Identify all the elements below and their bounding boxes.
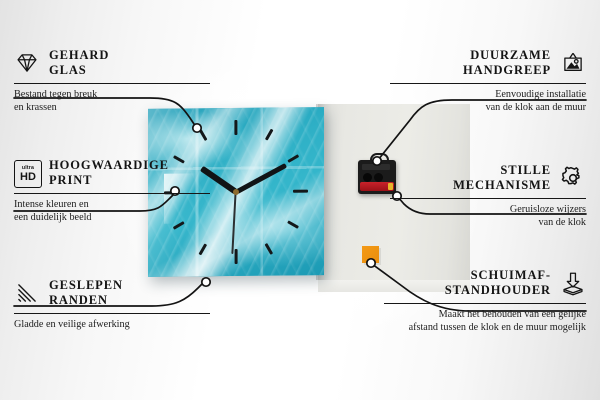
picture-frame-icon xyxy=(560,50,586,76)
feature-duurzame-handgreep: DUURZAME HANDGREEP Eenvoudige installati… xyxy=(390,48,586,115)
feature-title-line2: MECHANISME xyxy=(453,178,551,193)
feature-desc-line1: Maakt het behouden van een gelijke xyxy=(384,308,586,322)
feature-title-line1: STILLE xyxy=(453,163,551,178)
feature-header: SCHUIMAF- STANDHOUDER xyxy=(384,268,586,299)
feature-title-line1: GEHARD xyxy=(49,48,109,63)
clock-tick xyxy=(234,249,237,264)
feature-divider xyxy=(384,303,586,304)
feature-desc-line1: Geruisloze wijzers xyxy=(390,203,586,217)
press-down-pad-icon xyxy=(560,270,586,296)
feature-divider xyxy=(14,313,210,314)
feature-gehard-glas: GEHARD GLAS Bestand tegen breuk en krass… xyxy=(14,48,210,115)
feature-title-line1: SCHUIMAF- xyxy=(445,268,551,283)
feature-hoogwaardige-print: ultra HD HOOGWAARDIGE PRINT Intense kleu… xyxy=(14,158,210,225)
feature-desc-line1: Intense kleuren en xyxy=(14,198,210,212)
feature-title: DUURZAME HANDGREEP xyxy=(463,48,551,79)
feature-desc-line1: Gladde en veilige afwerking xyxy=(14,318,210,332)
feature-desc-line2: en krassen xyxy=(14,101,210,115)
clock-hands-hub xyxy=(233,189,239,195)
feature-geslepen-randen: GESLEPEN RANDEN Gladde en veilige afwerk… xyxy=(14,278,210,331)
feature-title: GEHARD GLAS xyxy=(49,48,109,79)
feature-title: STILLE MECHANISME xyxy=(453,163,551,194)
feature-desc-line2: een duidelijk beeld xyxy=(14,211,210,225)
feature-divider xyxy=(390,198,586,199)
feature-desc-line2: van de klok aan de muur xyxy=(390,101,586,115)
feature-title-line2: GLAS xyxy=(49,63,109,78)
mechanism-slot xyxy=(362,164,390,170)
feature-header: ultra HD HOOGWAARDIGE PRINT xyxy=(14,158,210,189)
feature-divider xyxy=(14,193,210,194)
clock-tick xyxy=(293,190,308,193)
diamond-icon xyxy=(14,50,40,76)
mechanism-knob xyxy=(363,173,372,182)
feature-desc-line1: Eenvoudige installatie xyxy=(390,88,586,102)
feature-divider xyxy=(14,83,210,84)
feature-schuimafstandhouder: SCHUIMAF- STANDHOUDER Maakt het behouden… xyxy=(384,268,586,335)
feature-header: DUURZAME HANDGREEP xyxy=(390,48,586,79)
feature-title-line2: RANDEN xyxy=(49,293,123,308)
feature-header: GEHARD GLAS xyxy=(14,48,210,79)
foam-spacer xyxy=(362,246,379,263)
gear-icon xyxy=(560,165,586,191)
feature-title-line2: STANDHOUDER xyxy=(445,283,551,298)
beveled-edge-icon xyxy=(14,280,40,306)
ultra-hd-badge-icon: ultra HD xyxy=(14,160,40,186)
feature-title-line1: DUURZAME xyxy=(463,48,551,63)
feature-title: GESLEPEN RANDEN xyxy=(49,278,123,309)
clock-tick xyxy=(234,120,237,135)
feature-divider xyxy=(390,83,586,84)
feature-header: GESLEPEN RANDEN xyxy=(14,278,210,309)
badge-large-text: HD xyxy=(20,172,36,183)
feature-desc-line2: afstand tussen de klok en de muur mogeli… xyxy=(384,321,586,335)
feature-stille-mechanisme: STILLE MECHANISME Geruisloze wijzers van… xyxy=(390,163,586,230)
feature-desc-line2: van de klok xyxy=(390,216,586,230)
feature-header: STILLE MECHANISME xyxy=(390,163,586,194)
feature-title-line2: PRINT xyxy=(49,173,169,188)
feature-desc-line1: Bestand tegen breuk xyxy=(14,88,210,102)
feature-title-line1: HOOGWAARDIGE xyxy=(49,158,169,173)
feature-title-line2: HANDGREEP xyxy=(463,63,551,78)
battery xyxy=(360,182,394,191)
feature-title: HOOGWAARDIGE PRINT xyxy=(49,158,169,189)
feature-title-line1: GESLEPEN xyxy=(49,278,123,293)
infographic-canvas: GEHARD GLAS Bestand tegen breuk en krass… xyxy=(0,0,600,400)
feature-title: SCHUIMAF- STANDHOUDER xyxy=(445,268,551,299)
